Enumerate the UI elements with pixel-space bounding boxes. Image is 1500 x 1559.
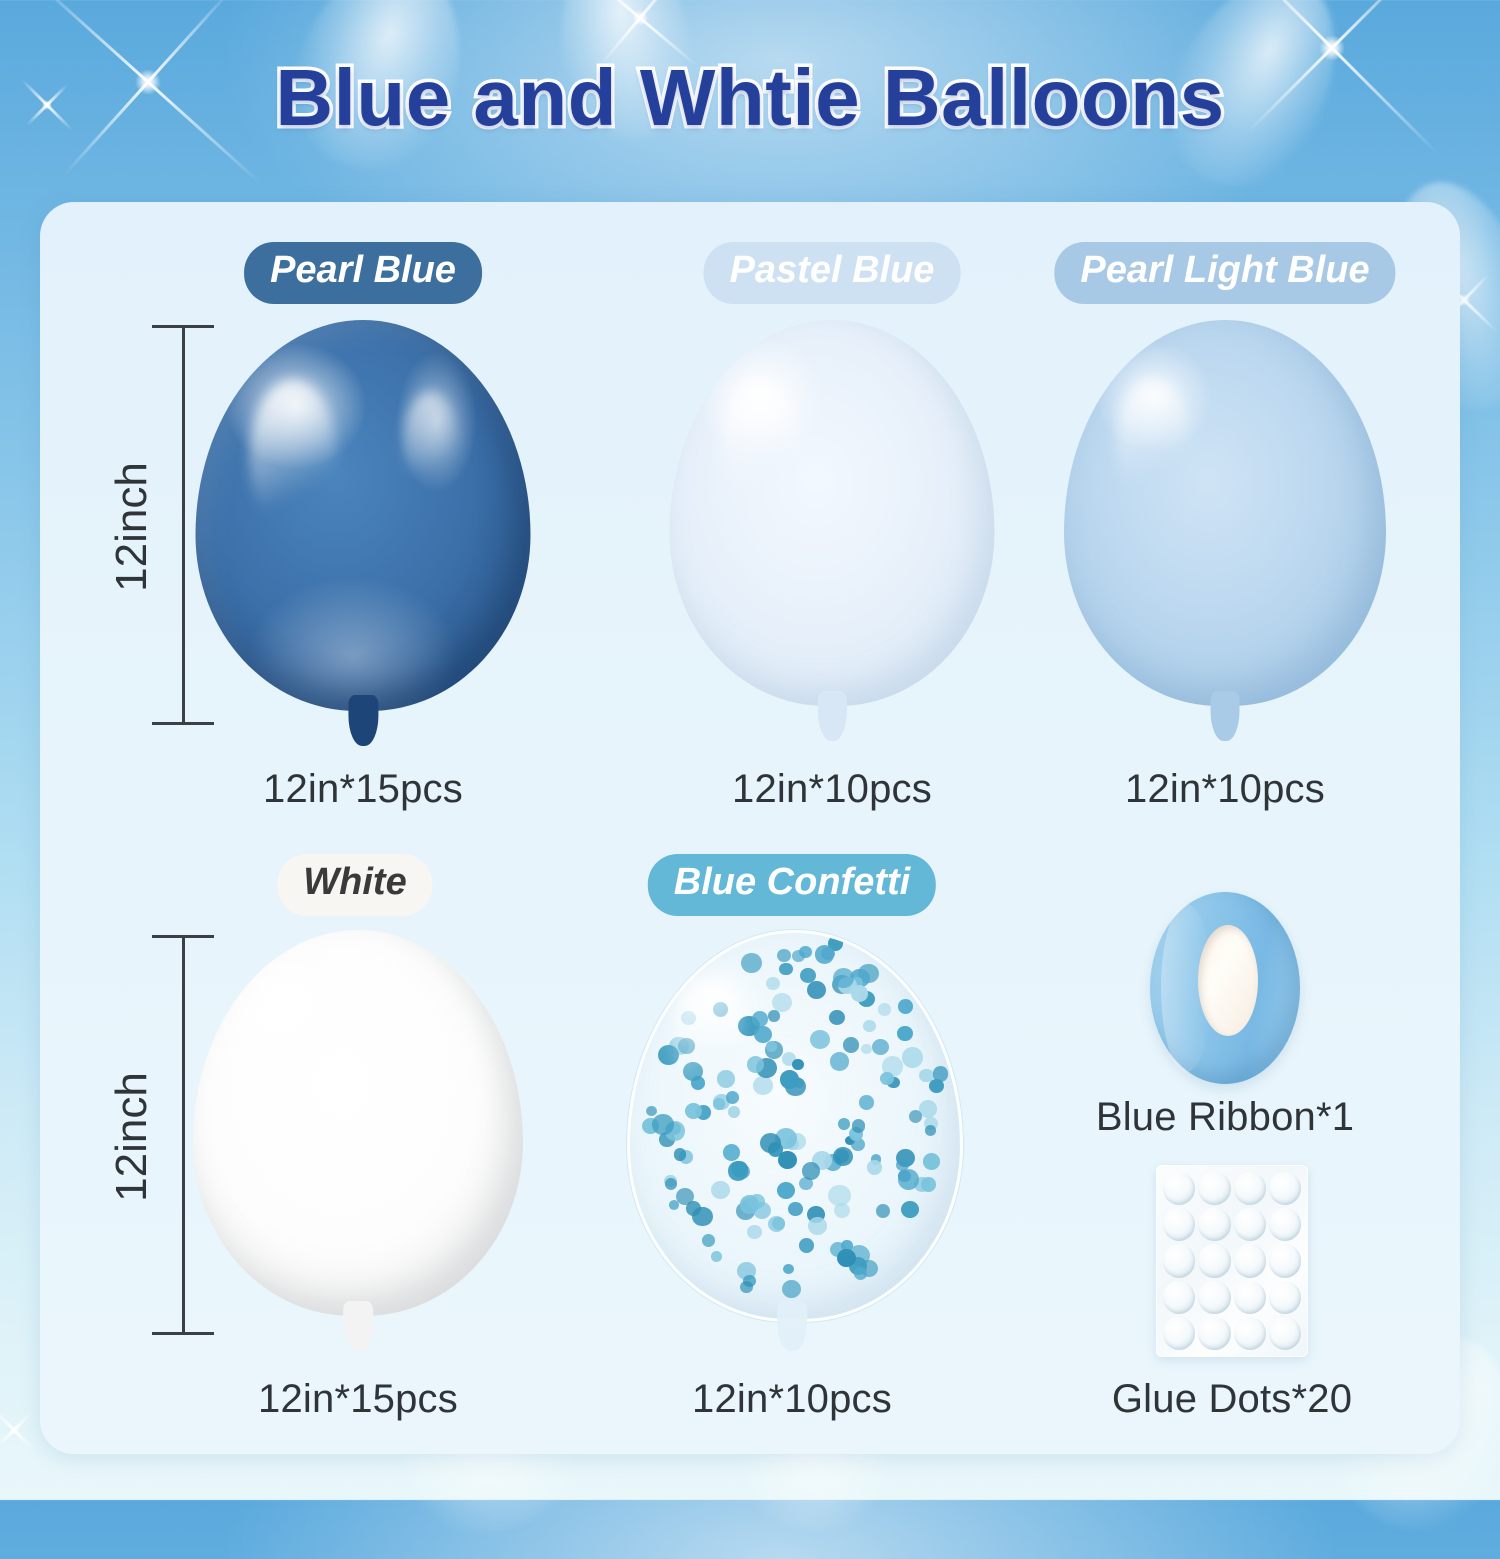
confetti-dot (902, 1047, 924, 1068)
confetti-balloon-icon (627, 930, 957, 1350)
confetti-dot (792, 1059, 804, 1070)
confetti-dot (788, 1202, 802, 1216)
quantity-blue-ribbon: Blue Ribbon*1 (1096, 1095, 1354, 1140)
confetti-dot (867, 1160, 882, 1174)
confetti-dot (646, 1106, 657, 1116)
confetti-dot (747, 1056, 764, 1073)
confetti-dot (772, 1217, 786, 1230)
dimension-label-row1: 12inch (107, 427, 157, 627)
label-white: White (277, 854, 432, 916)
confetti-dot (692, 1207, 713, 1227)
ribbon-roll-icon (1150, 892, 1300, 1084)
confetti-dot (810, 1030, 830, 1049)
confetti-dot (835, 1149, 849, 1163)
confetti-dot (723, 1144, 740, 1161)
confetti-dot (783, 1264, 793, 1274)
confetti-dot (929, 1079, 944, 1093)
confetti-dot (711, 1181, 730, 1199)
confetti-dot (897, 1026, 913, 1041)
balloon-icon (196, 320, 531, 745)
confetti-dot (780, 1070, 799, 1088)
confetti-dot (815, 945, 835, 964)
balloon-blue-confetti (627, 930, 957, 1350)
confetti-dot (838, 1118, 850, 1129)
confetti-dot (898, 999, 913, 1014)
confetti-dot (740, 1195, 759, 1213)
confetti-dot (726, 1091, 739, 1104)
confetti-dot (843, 1037, 859, 1052)
confetti-dot (909, 1110, 923, 1123)
confetti-dot (702, 1234, 715, 1246)
page-title: Blue and Whtie Balloons (0, 52, 1500, 144)
confetti-dot (685, 1103, 702, 1119)
balloon-pastel-blue (670, 320, 995, 740)
confetti-dot (799, 1238, 814, 1253)
confetti-dot (782, 1280, 801, 1298)
confetti-dot (802, 1162, 821, 1180)
confetti-dot (728, 1106, 740, 1118)
confetti-dot (772, 993, 792, 1012)
confetti-dot (880, 1072, 894, 1085)
product-contents-card: 12inch 12inch Pearl Blue 12in*15pcs Past… (40, 202, 1460, 1454)
glue-dots-sheet-icon (1156, 1165, 1308, 1357)
confetti-dot (863, 1020, 876, 1032)
confetti-dot (854, 1267, 867, 1280)
items-grid: 12inch 12inch Pearl Blue 12in*15pcs Past… (40, 202, 1460, 1454)
confetti-dot (859, 1095, 874, 1109)
label-blue-confetti: Blue Confetti (648, 854, 936, 916)
confetti-dot (923, 1153, 941, 1170)
confetti-dot (728, 1161, 748, 1181)
label-pastel-blue: Pastel Blue (704, 242, 961, 304)
confetti-dot (753, 1076, 773, 1095)
confetti-dot (898, 1169, 919, 1190)
confetti-dot (752, 1011, 768, 1026)
confetti-dot (808, 1217, 827, 1235)
confetti-dot (711, 1251, 723, 1262)
confetti-dot (901, 1201, 919, 1218)
confetti-dot (777, 1182, 795, 1199)
confetti-dot (861, 1044, 871, 1054)
confetti-dot (837, 1249, 856, 1267)
confetti-dot (878, 1003, 891, 1015)
confetti-dot (876, 1204, 890, 1217)
confetti-dot (807, 981, 826, 999)
quantity-white: 12in*15pcs (258, 1377, 458, 1422)
confetti-dot (925, 1125, 936, 1135)
confetti-dot (777, 949, 791, 962)
confetti-dot (792, 950, 805, 962)
confetti-dot (747, 1225, 762, 1239)
confetti-dot (768, 1010, 780, 1021)
confetti-dot (779, 963, 792, 976)
confetti-dot (665, 1178, 677, 1190)
confetti-dot (800, 968, 816, 983)
confetti-dot (778, 1151, 798, 1170)
confetti-dot (852, 1119, 866, 1132)
quantity-blue-confetti: 12in*10pcs (692, 1377, 892, 1422)
confetti-dot (740, 1281, 753, 1293)
balloon-icon (1064, 320, 1386, 740)
balloon-pearl-light-blue (1064, 320, 1386, 740)
balloon-white (193, 930, 523, 1350)
confetti-dot (833, 968, 854, 988)
confetti-dot (676, 1188, 694, 1205)
label-pearl-blue: Pearl Blue (244, 242, 482, 304)
dimension-label-row2: 12inch (107, 1037, 157, 1237)
confetti-dot (834, 1203, 850, 1219)
balloon-icon (670, 320, 995, 740)
confetti-dot (652, 1114, 674, 1135)
confetti-dot (674, 1148, 687, 1160)
balloon-icon (193, 930, 523, 1350)
quantity-pastel-blue: 12in*10pcs (732, 767, 932, 812)
balloon-pearl-blue (196, 320, 531, 745)
confetti-dot (872, 1039, 889, 1055)
quantity-glue-dots: Glue Dots*20 (1112, 1377, 1352, 1422)
confetti-dot (830, 1052, 849, 1070)
quantity-pearl-blue: 12in*15pcs (263, 767, 463, 812)
quantity-pearl-light-blue: 12in*10pcs (1125, 767, 1325, 812)
confetti-dot (741, 953, 762, 973)
confetti-dot (921, 1177, 936, 1192)
label-pearl-light-blue: Pearl Light Blue (1054, 242, 1395, 304)
confetti-dot (829, 1010, 845, 1025)
confetti-dot (766, 977, 780, 990)
